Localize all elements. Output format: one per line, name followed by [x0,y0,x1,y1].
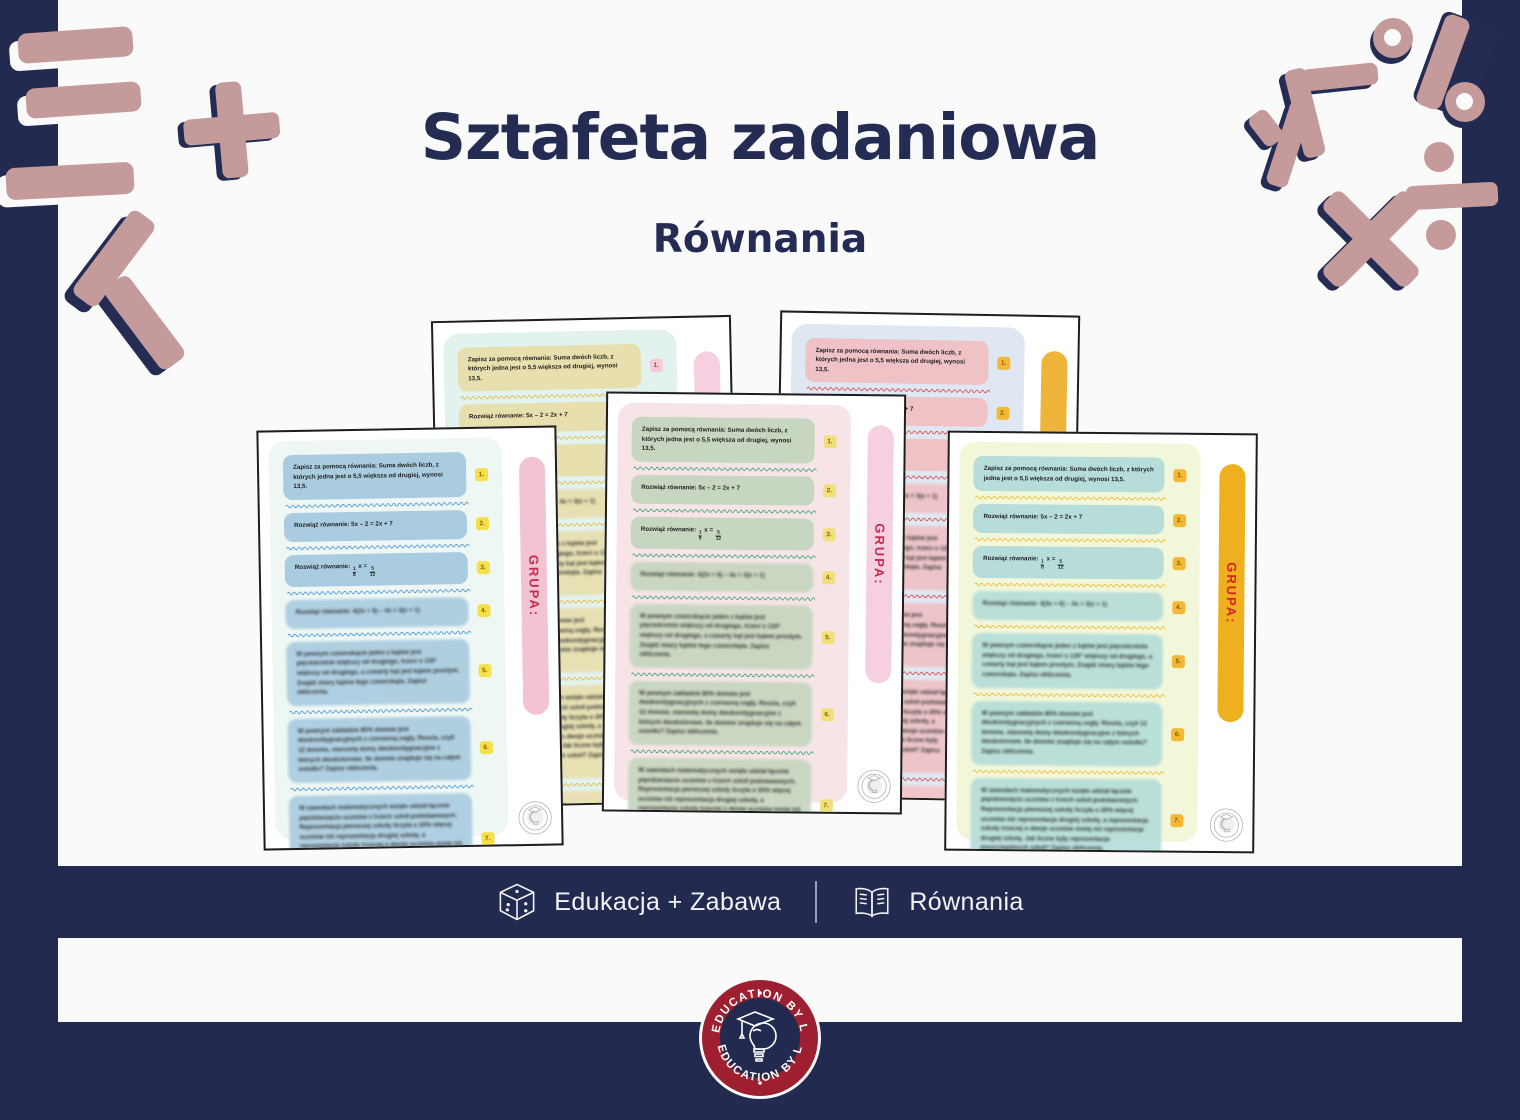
worksheet-item-text: Rozwiąż równanie: 18 x = 512 [285,552,468,587]
worksheet-item-text: Zapisz za pomocą równania: Suma dwóch li… [283,452,466,500]
wiggly-divider [975,581,1166,590]
wiggly-divider [286,500,469,510]
wiggly-divider [291,783,474,793]
wiggly-divider [976,494,1167,503]
worksheet-item-number: 4. [477,604,490,617]
card-watermark-stamp [856,768,892,804]
worksheet-item: W pewnym czworokącie jeden z kątów jest … [286,638,494,706]
card-watermark-stamp [1208,807,1244,843]
wiggly-divider [287,587,470,597]
worksheet-item-text: W pewnym zakładzie 80% domów jest dwukon… [629,681,812,747]
worksheet-item-text: Rozwiąż równanie: 5x – 2 = 2x + 7 [284,510,467,542]
wiggly-divider [633,552,816,561]
footer-edukacja: Edukacja + Zabawa [496,881,781,923]
worksheet-item-number: 5. [1172,656,1185,669]
worksheet-item: W pewnym zakładzie 80% domów jest dwukon… [287,715,495,783]
worksheet-item-number: 1. [823,435,836,448]
worksheet-item: Rozwiąż równanie: 4(2x + 6) – 4x = 3(x +… [973,591,1188,622]
worksheet-item-number: 1. [475,468,488,481]
grupa-label: GRUPA: [1217,464,1245,722]
dice-icon [496,881,538,923]
wiggly-divider [974,623,1165,632]
worksheet-item-number: 2. [996,407,1009,420]
worksheet-item-text: W pewnym czworokącie jeden z kątów jest … [972,633,1163,689]
footer-bar: Edukacja + Zabawa Równania [0,866,1520,938]
worksheet-item-text: Rozwiąż równanie: 18 x = 512 [631,517,814,551]
worksheet-item-text: W pewnym czworokącie jeden z kątów jest … [286,639,470,706]
worksheet-item-number: 3. [1173,557,1186,570]
worksheet-item-number: 6. [1171,728,1184,741]
poster-stage: Sztafeta zadaniowa Równania Zapisz za po… [0,0,1520,1120]
worksheet-item: W pewnym zakładzie 80% domów jest dwukon… [629,681,836,747]
worksheet-item: W zawodach matematycznych wzięło udział … [627,758,835,815]
worksheet-item-text: Rozwiąż równanie: 5x – 2 = 2x + 7 [631,475,814,506]
worksheet-item: Zapisz za pomocą równania: Suma dwóch li… [283,452,490,500]
worksheet-item-text: W zawodach matematycznych wzięło udział … [289,793,473,851]
worksheet-item-number: 4. [822,572,835,585]
worksheet-item-text: Rozwiąż równanie: 4(2x + 6) – 4x = 3(x +… [973,591,1164,622]
footer-rownania-label: Równania [909,888,1023,917]
grupa-label: GRUPA: [865,425,894,683]
worksheet-item-number: 5. [821,631,834,644]
worksheet-item-number: 6. [480,741,493,754]
wiggly-divider [973,768,1164,777]
footer-rownania: Równania [851,884,1023,920]
worksheet-item-number: 3. [476,561,489,574]
worksheet-surface: Zapisz za pomocą równania: Suma dwóch li… [269,438,509,840]
card-watermark-stamp [517,800,554,837]
grupa-label: GRUPA: [519,457,549,715]
worksheet-item-text: Zapisz za pomocą równania: Suma dwóch li… [805,337,988,385]
wiggly-divider [286,542,469,552]
worksheet-item-text: Rozwiąż równanie: 4(2x + 6) – 4x = 3(x +… [285,597,468,629]
worksheet-card-stack: Zapisz za pomocą równania: Suma dwóch li… [58,0,1462,866]
worksheet-item: W pewnym czworokącie jeden z kątów jest … [629,604,836,670]
worksheet-item: Zapisz za pomocą równania: Suma dwóch li… [974,456,1189,493]
worksheet-item-number: 2. [476,518,489,531]
wiggly-divider [631,671,814,680]
footer-edukacja-label: Edukacja + Zabawa [554,888,781,917]
worksheet-item-number: 2. [1173,514,1186,527]
worksheet-item-text: Zapisz za pomocą równania: Suma dwóch li… [632,417,815,464]
worksheet-item: Rozwiąż równanie: 4(2x + 6) – 4x = 3(x +… [630,562,837,593]
worksheet-item-text: W pewnym zakładzie 80% domów jest dwukon… [971,701,1162,767]
worksheet-item-text: Rozwiąż równanie: 5x – 2 = 2x + 7 [973,504,1164,535]
worksheet-item-number: 6. [821,708,834,721]
worksheet-item-text: Zapisz za pomocą równania: Suma dwóch li… [458,343,642,392]
worksheet-item: Rozwiąż równanie: 4(2x + 6) – 4x = 3(x +… [285,596,492,629]
worksheet-card-pink[interactable]: Zapisz za pomocą równania: Suma dwóch li… [602,391,906,814]
worksheet-item-number: 3. [822,528,835,541]
worksheet-item-number: 1. [650,359,663,372]
worksheet-item: Zapisz za pomocą równania: Suma dwóch li… [632,417,839,464]
wiggly-divider [289,706,472,716]
worksheet-item-number: 5. [478,664,491,677]
worksheet-item: Rozwiąż równanie: 5x – 2 = 2x + 72. [284,510,491,543]
book-icon [851,884,893,920]
wiggly-divider [974,691,1165,700]
worksheet-item: W pewnym zakładzie 80% domów jest dwukon… [971,701,1186,767]
worksheet-item-text: Rozwiąż równanie: 18 x = 512 [973,546,1164,580]
worksheet-item-number: 4. [1172,601,1185,614]
worksheet-surface: Zapisz za pomocą równania: Suma dwóch li… [614,403,851,803]
worksheet-item: W pewnym czworokącie jeden z kątów jest … [972,633,1187,689]
worksheet-item-text: W zawodach matematycznych wzięło udział … [970,778,1161,854]
wiggly-divider [633,507,816,516]
worksheet-item-number: 2. [823,485,836,498]
worksheet-item-number: 1. [997,357,1010,370]
wiggly-divider [632,594,815,603]
worksheet-item: Rozwiąż równanie: 18 x = 5123. [631,517,838,551]
wiggly-divider [633,465,816,474]
worksheet-item-number: 1. [1173,469,1186,482]
wiggly-divider [288,629,471,639]
worksheet-item: Rozwiąż równanie: 18 x = 5123. [973,546,1188,580]
worksheet-item-text: W zawodach matematycznych wzięło udział … [627,758,811,815]
worksheet-item: Rozwiąż równanie: 18 x = 5123. [285,552,492,587]
worksheet-item-number: 7. [481,832,494,845]
education-by-l-badge: EDUCATION BY L EDUCATION BY L [697,975,823,1101]
worksheet-item: W zawodach matematycznych wzięło udział … [970,778,1185,854]
worksheet-item-number: 7. [1170,814,1183,827]
worksheet-surface: Zapisz za pomocą równania: Suma dwóch li… [957,442,1201,842]
worksheet-item: W zawodach matematycznych wzięło udział … [289,792,497,850]
footer-divider [815,881,817,923]
worksheet-item: Zapisz za pomocą równania: Suma dwóch li… [458,343,666,392]
worksheet-item: Rozwiąż równanie: 5x – 2 = 2x + 72. [631,475,838,506]
worksheet-item-number: 7. [820,800,833,813]
wiggly-divider [975,536,1166,545]
worksheet-item-text: W pewnym czworokącie jeden z kątów jest … [629,604,812,670]
worksheet-card-blue[interactable]: Zapisz za pomocą równania: Suma dwóch li… [256,425,563,850]
worksheet-item-text: Zapisz za pomocą równania: Suma dwóch li… [974,456,1165,493]
worksheet-item-text: Rozwiąż równanie: 4(2x + 6) – 4x = 3(x +… [630,562,813,593]
worksheet-item: Zapisz za pomocą równania: Suma dwóch li… [805,337,1012,385]
worksheet-item-text: W pewnym zakładzie 80% domów jest dwukon… [287,716,471,783]
wiggly-divider [630,748,813,757]
worksheet-card-yellow[interactable]: Zapisz za pomocą równania: Suma dwóch li… [944,431,1258,854]
worksheet-item: Rozwiąż równanie: 5x – 2 = 2x + 72. [973,504,1188,535]
